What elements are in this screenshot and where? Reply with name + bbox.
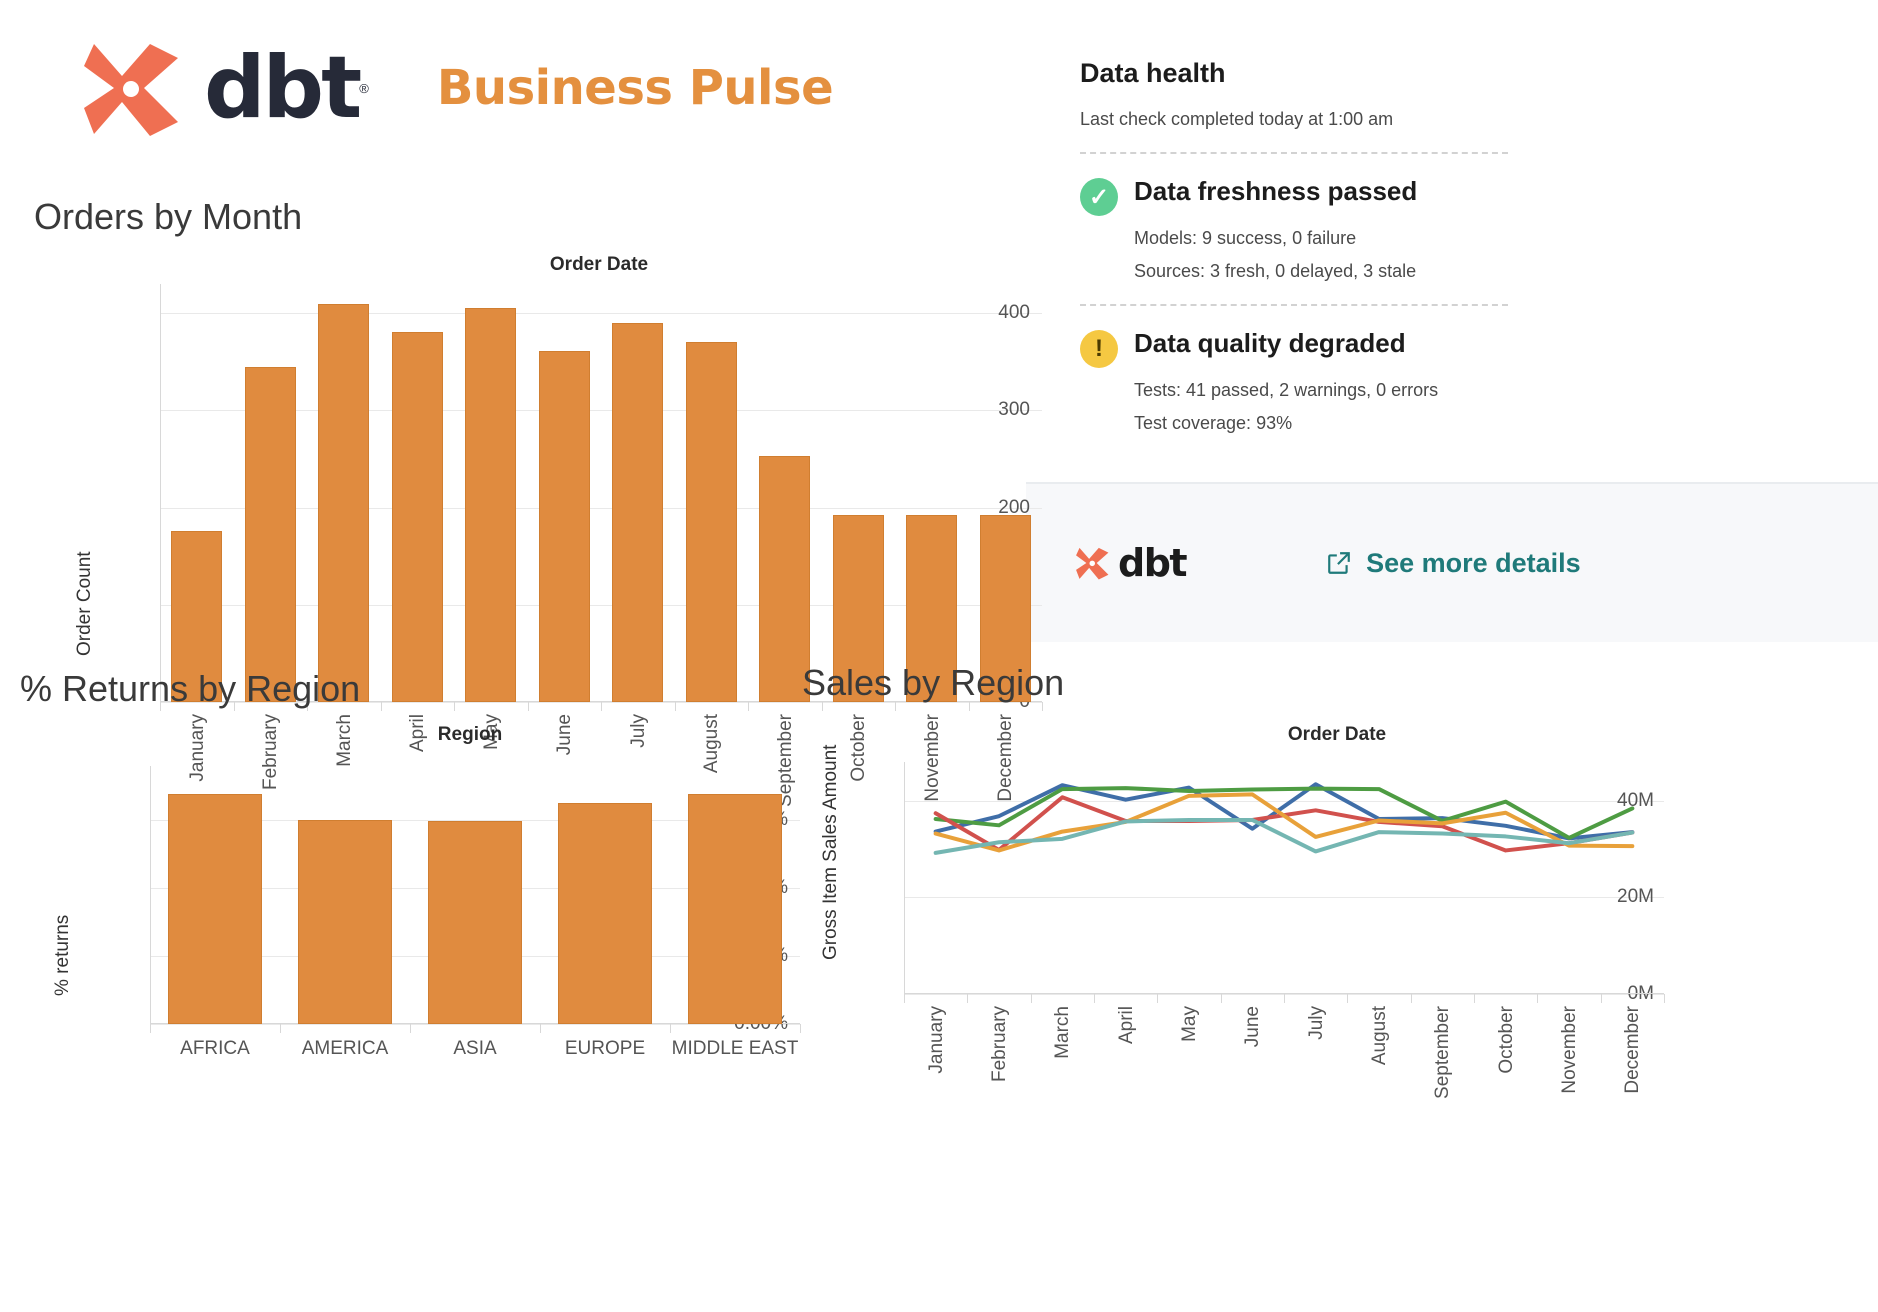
health-item-title: Data freshness passed xyxy=(1134,176,1417,207)
y-axis-line xyxy=(150,766,151,1024)
orders-y-axis-label: Order Count xyxy=(74,506,96,656)
x-axis-tick-label: February xyxy=(989,1006,1011,1082)
x-tick-mark xyxy=(1601,994,1602,1003)
orders-chart-title: Order Date xyxy=(154,254,1044,276)
last-check-text: Last check completed today at 1:00 am xyxy=(1080,109,1860,130)
health-detail-line: Test coverage: 93% xyxy=(1134,413,1860,434)
sales-section-title: Sales by Region xyxy=(802,662,1878,704)
x-tick-mark xyxy=(1284,994,1285,1003)
x-axis-tick-label: March xyxy=(1052,1006,1074,1059)
dbt-x-mark-icon xyxy=(78,36,200,140)
x-axis-tick-label: April xyxy=(1116,1006,1138,1044)
data-health-heading: Data health xyxy=(1080,58,1860,89)
sales-chart-title: Order Date xyxy=(922,724,1752,746)
y-axis-tick-label: 300 xyxy=(998,399,1030,421)
x-tick-mark xyxy=(150,1024,151,1033)
page-header: dbt ® Business Pulse xyxy=(78,36,833,140)
x-axis-tick-label: May xyxy=(1179,1006,1201,1042)
divider xyxy=(1080,152,1508,154)
orders-by-month-section: Orders by Month Order Date Order Count 0… xyxy=(34,196,1034,256)
dbt-x-mark-icon xyxy=(1074,545,1116,581)
x-axis-tick-label: October xyxy=(1496,1006,1518,1074)
bar[interactable] xyxy=(245,367,296,702)
x-axis-tick-label: EUROPE xyxy=(565,1038,645,1060)
bar[interactable] xyxy=(318,304,369,702)
x-axis-tick-label: September xyxy=(1432,1006,1454,1099)
warning-circle-icon: ! xyxy=(1080,330,1118,368)
gridline xyxy=(160,313,1042,314)
y-axis-tick-label: 400 xyxy=(998,302,1030,324)
sales-plot-area: 0M20M40MJanuaryFebruaryMarchAprilMayJune… xyxy=(904,762,1664,994)
health-item-freshness-details: Models: 9 success, 0 failure Sources: 3 … xyxy=(1134,228,1860,282)
x-axis-tick-label: August xyxy=(1369,1006,1391,1065)
x-tick-mark xyxy=(410,1024,411,1033)
x-tick-mark xyxy=(1221,994,1222,1003)
bar[interactable] xyxy=(428,821,522,1024)
orders-plot-area: 0100200300400JanuaryFebruaryMarchAprilMa… xyxy=(160,284,1042,702)
x-axis-tick-label: January xyxy=(926,1006,948,1074)
x-tick-mark xyxy=(1031,994,1032,1003)
gridline xyxy=(150,1024,800,1025)
see-more-details-label: See more details xyxy=(1366,548,1581,579)
y-axis-line xyxy=(160,284,161,702)
health-item-quality: ! Data quality degraded xyxy=(1080,328,1860,368)
returns-y-axis-label: % returns xyxy=(52,886,74,996)
page-title: Business Pulse xyxy=(437,60,833,116)
divider xyxy=(1080,304,1508,306)
x-axis-tick-label: ASIA xyxy=(453,1038,496,1060)
health-detail-line: Models: 9 success, 0 failure xyxy=(1134,228,1860,249)
x-axis-tick-label: AMERICA xyxy=(302,1038,389,1060)
x-tick-mark xyxy=(670,1024,671,1033)
sales-y-axis-label: Gross Item Sales Amount xyxy=(820,760,842,960)
bar[interactable] xyxy=(539,351,590,702)
x-tick-mark xyxy=(1094,994,1095,1003)
sales-by-region-section: Sales by Region Order Date Gross Item Sa… xyxy=(802,662,1878,704)
data-health-panel: Data health Last check completed today a… xyxy=(1080,58,1860,434)
returns-chart-title: Region xyxy=(140,724,800,746)
sales-lines-svg xyxy=(904,762,1664,994)
x-tick-mark xyxy=(1664,994,1665,1003)
health-detail-line: Tests: 41 passed, 2 warnings, 0 errors xyxy=(1134,380,1860,401)
dbt-logo-small: dbt xyxy=(1074,541,1186,585)
x-axis-tick-label: July xyxy=(1306,1006,1328,1040)
see-more-details-panel: dbt See more details xyxy=(1026,482,1878,642)
check-circle-icon: ✓ xyxy=(1080,178,1118,216)
x-tick-mark xyxy=(904,994,905,1003)
x-tick-mark xyxy=(967,994,968,1003)
external-link-icon xyxy=(1326,550,1352,576)
x-axis-tick-label: MIDDLE EAST xyxy=(672,1038,799,1060)
bar[interactable] xyxy=(168,794,262,1024)
health-item-title: Data quality degraded xyxy=(1134,328,1406,359)
x-axis-tick-label: October xyxy=(848,714,870,782)
x-tick-mark xyxy=(1474,994,1475,1003)
x-axis-tick-label: November xyxy=(1559,1006,1581,1094)
dbt-logo: dbt ® xyxy=(78,36,369,140)
bar[interactable] xyxy=(298,820,392,1024)
dashboard-root: dbt ® Business Pulse Data health Last ch… xyxy=(0,0,1878,1312)
returns-plot-area: 0.00%2.00%4.00%6.00%AFRICAAMERICAASIAEUR… xyxy=(150,766,800,1024)
x-tick-mark xyxy=(540,1024,541,1033)
line-series[interactable] xyxy=(936,784,1633,838)
bar[interactable] xyxy=(465,308,516,702)
x-tick-mark xyxy=(800,1024,801,1033)
x-axis-tick-label: June xyxy=(1242,1006,1264,1047)
trademark-glyph: ® xyxy=(359,81,369,96)
x-tick-mark xyxy=(280,1024,281,1033)
returns-section-title: % Returns by Region xyxy=(20,668,820,710)
see-more-details-link[interactable]: See more details xyxy=(1326,548,1581,579)
health-item-quality-details: Tests: 41 passed, 2 warnings, 0 errors T… xyxy=(1134,380,1860,434)
health-item-freshness: ✓ Data freshness passed xyxy=(1080,176,1860,216)
bar[interactable] xyxy=(686,342,737,702)
x-axis-tick-label: AFRICA xyxy=(180,1038,250,1060)
x-tick-mark xyxy=(1411,994,1412,1003)
dbt-wordmark-small: dbt xyxy=(1118,541,1186,585)
bar[interactable] xyxy=(558,803,652,1024)
bar[interactable] xyxy=(612,323,663,702)
bar[interactable] xyxy=(392,332,443,702)
orders-section-title: Orders by Month xyxy=(34,196,1034,238)
returns-by-region-section: % Returns by Region Region % returns 0.0… xyxy=(20,668,820,710)
x-tick-mark xyxy=(1347,994,1348,1003)
health-detail-line: Sources: 3 fresh, 0 delayed, 3 stale xyxy=(1134,261,1860,282)
x-tick-mark xyxy=(1537,994,1538,1003)
dbt-wordmark: dbt xyxy=(204,45,359,131)
x-tick-mark xyxy=(1157,994,1158,1003)
x-axis-tick-label: December xyxy=(1622,1006,1644,1094)
bar[interactable] xyxy=(688,794,782,1024)
